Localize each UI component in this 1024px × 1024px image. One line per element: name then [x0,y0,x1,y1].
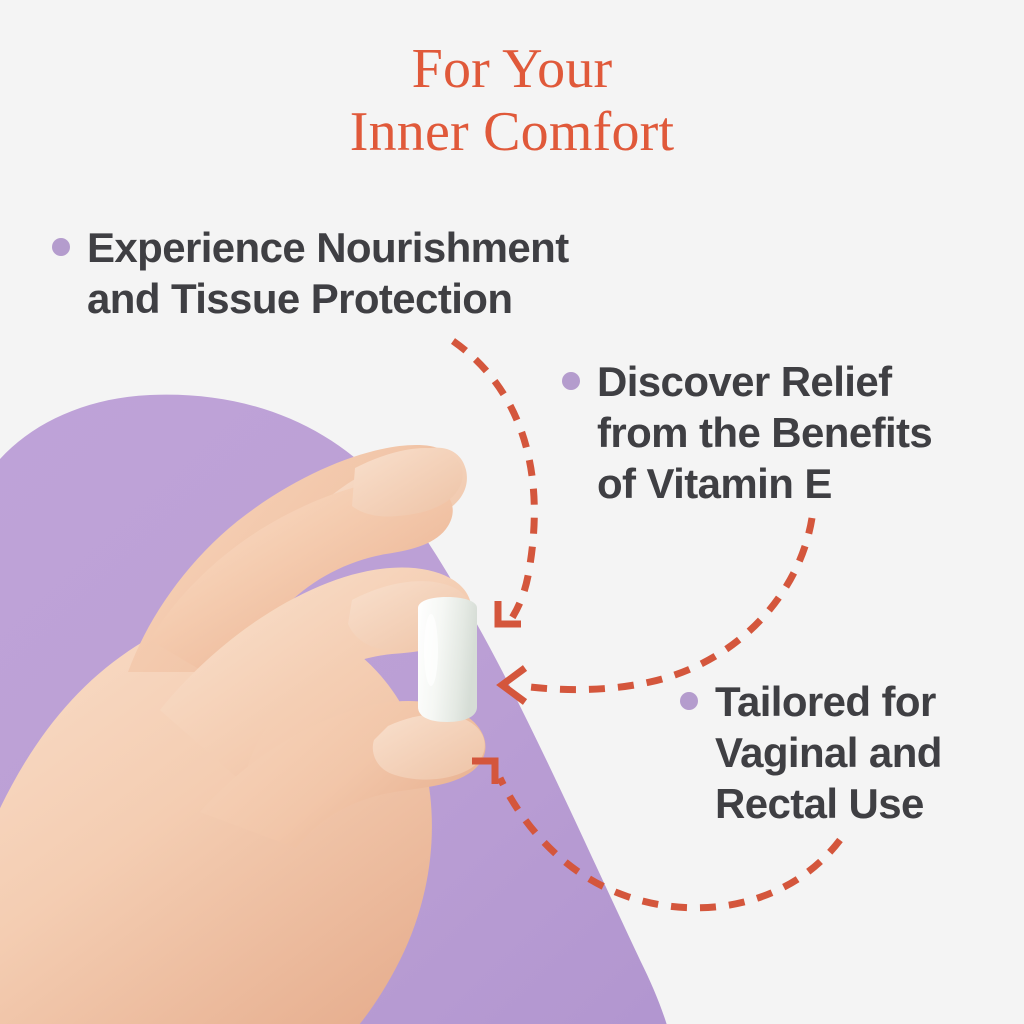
benefit-bullet-label-1: Experience Nourishment and Tissue Protec… [87,222,569,324]
benefit-bullet-vitamin-e: Discover Relief from the Benefits of Vit… [562,356,932,510]
benefit-bullet-nourishment: Experience Nourishment and Tissue Protec… [52,222,569,324]
product-infographic: For Your Inner Comfort Experience Nouris… [0,0,1024,1024]
benefit-bullet-usage: Tailored for Vaginal and Rectal Use [680,676,942,830]
text-content-layer: For Your Inner Comfort Experience Nouris… [0,0,1024,1024]
purple-bullet-dot-icon [562,372,580,390]
headline-line-1: For Your [0,38,1024,101]
purple-bullet-dot-icon [52,238,70,256]
headline-line-2: Inner Comfort [0,101,1024,164]
benefit-bullet-label-2: Discover Relief from the Benefits of Vit… [597,356,932,510]
page-title: For Your Inner Comfort [0,38,1024,163]
benefit-bullet-label-3: Tailored for Vaginal and Rectal Use [715,676,942,830]
purple-bullet-dot-icon [680,692,698,710]
